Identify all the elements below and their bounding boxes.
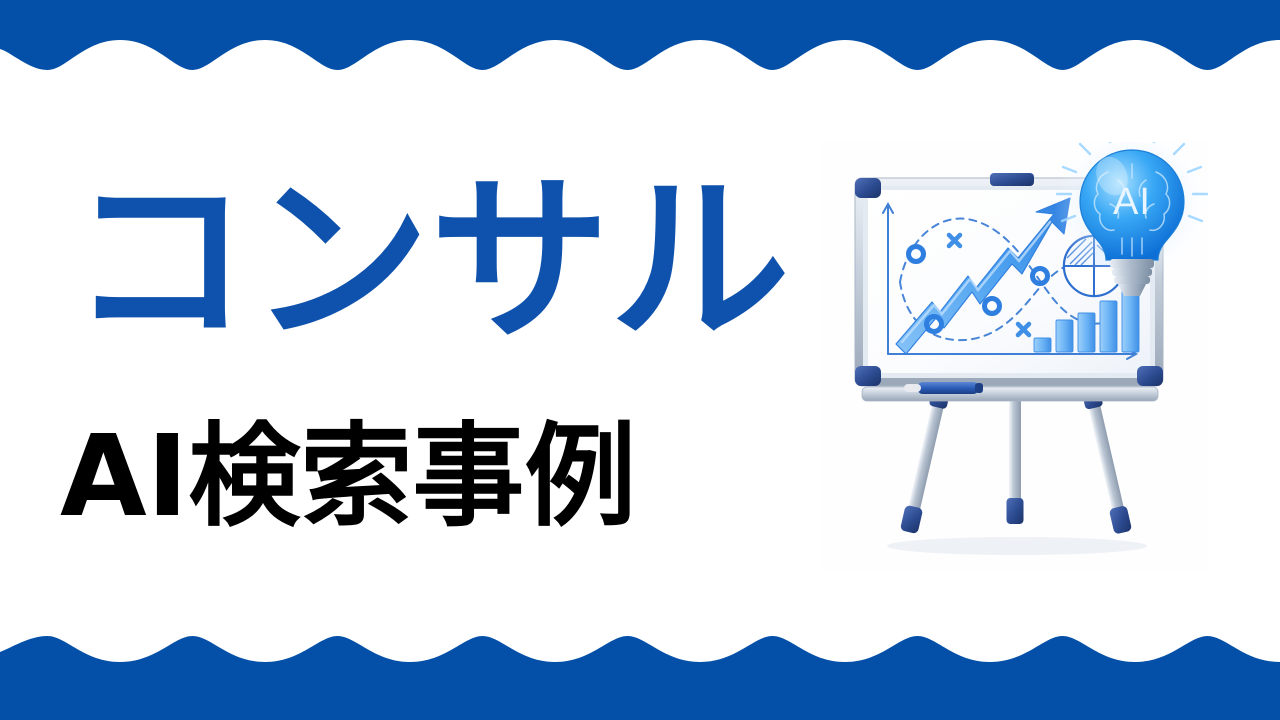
whiteboard-corner-br-block xyxy=(1137,366,1163,386)
lightbulb-ai-label: AI xyxy=(1113,181,1151,223)
bar-2 xyxy=(1056,320,1073,352)
headline-block: コンサル AI検索事例 xyxy=(0,0,820,720)
headline-primary: コンサル xyxy=(70,172,790,352)
headline-secondary: AI検索事例 xyxy=(60,421,636,533)
easel-foot-center xyxy=(1007,498,1024,524)
easel-foot-right xyxy=(1109,505,1132,534)
marker-cap-ring xyxy=(975,383,983,393)
marker-tip xyxy=(904,384,921,392)
easel-foot-left xyxy=(900,505,923,534)
whiteboard-corner-tl-block xyxy=(855,178,881,198)
bar-4 xyxy=(1100,301,1117,352)
marker-body xyxy=(917,382,979,394)
whiteboard-corner-bl-block xyxy=(855,366,881,386)
thumbnail-canvas: コンサル AI検索事例 xyxy=(0,0,1280,720)
easel-ground-shadow xyxy=(887,537,1147,555)
bar-1 xyxy=(1034,338,1051,352)
easel-tripod xyxy=(900,388,1132,535)
illustration-panel: AI xyxy=(822,142,1208,572)
bar-3 xyxy=(1078,313,1095,352)
whiteboard-clip xyxy=(990,173,1034,186)
